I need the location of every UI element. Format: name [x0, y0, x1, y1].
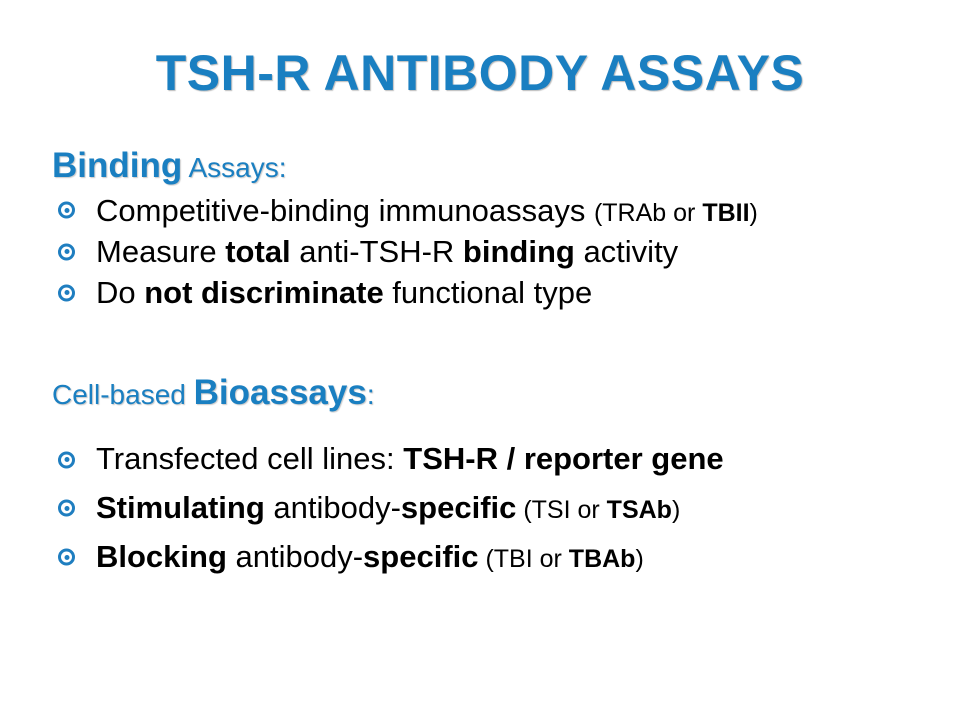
bullet-span: specific [363, 539, 478, 574]
bullet-span: Measure [96, 234, 225, 269]
bullet-span: ) [635, 545, 643, 573]
section-heading-binding-rest: Assays: [182, 152, 286, 183]
section-heading-bioassays-prefix: Cell-based [52, 379, 194, 410]
bullet-target-icon [58, 243, 75, 260]
heading-spacer [52, 417, 932, 435]
bullet-text: Do not discriminate functional type [96, 275, 592, 310]
bullet-target-icon [58, 284, 75, 301]
bullet-span: Competitive-binding immunoassays [96, 193, 594, 228]
section-spacer [52, 313, 932, 375]
section-heading-bioassays: Cell-based Bioassays: [52, 375, 932, 411]
bullet-target-icon [58, 451, 75, 468]
bullet-span: (TBI [479, 545, 540, 573]
bullet-span: Transfected cell lines: [96, 441, 403, 476]
slide-body: Binding Assays: Competitive-binding immu… [52, 148, 932, 582]
bullet-span: total [225, 234, 290, 269]
bullet-span: Stimulating [96, 490, 265, 525]
bullet-span: Do [96, 275, 144, 310]
bullet-span: antibody- [265, 490, 401, 525]
bullet-span: specific [401, 490, 516, 525]
bullet-span: ) [750, 199, 758, 227]
list-item: Transfected cell lines: TSH-R / reporter… [52, 435, 932, 484]
bullet-span: Blocking [96, 539, 227, 574]
bullet-text: Competitive-binding immunoassays (TRAb o… [96, 193, 758, 228]
bullet-span: TSH-R / reporter gene [403, 441, 723, 476]
bullet-span: not discriminate [144, 275, 383, 310]
list-item: Blocking antibody-specific (TBI or TBAb) [52, 533, 932, 582]
section-heading-bioassays-tail: : [367, 379, 375, 410]
section-heading-bioassays-bold: Bioassays [194, 373, 367, 412]
bullet-span: TBAb [569, 545, 636, 573]
bullet-span: functional type [384, 275, 593, 310]
list-item: Competitive-binding immunoassays (TRAb o… [52, 190, 932, 231]
list-item: Do not discriminate functional type [52, 272, 932, 313]
bullet-span: or [577, 496, 606, 524]
bullet-span: (TRAb [594, 199, 673, 227]
list-item: Measure total anti-TSH-R binding activit… [52, 231, 932, 272]
slide: TSH-R ANTIBODY ASSAYS Binding Assays: Co… [0, 0, 960, 720]
bullet-list-bioassays: Transfected cell lines: TSH-R / reporter… [52, 435, 932, 582]
bullet-span: ) [672, 496, 680, 524]
bullet-span: antibody- [227, 539, 363, 574]
bullet-target-icon [58, 549, 75, 566]
bullet-span: or [673, 199, 702, 227]
bullet-span: or [540, 545, 569, 573]
bullet-span: (TSI [516, 496, 577, 524]
bullet-span: TBII [702, 199, 749, 227]
page-title: TSH-R ANTIBODY ASSAYS [0, 44, 960, 102]
bullet-span: binding [463, 234, 575, 269]
bullet-text: Stimulating antibody-specific (TSI or TS… [96, 490, 680, 525]
bullet-text: Transfected cell lines: TSH-R / reporter… [96, 441, 724, 476]
list-item: Stimulating antibody-specific (TSI or TS… [52, 484, 932, 533]
bullet-span: TSAb [607, 496, 672, 524]
section-heading-binding-bold: Binding [52, 146, 182, 185]
bullet-text: Measure total anti-TSH-R binding activit… [96, 234, 678, 269]
bullet-target-icon [58, 500, 75, 517]
bullet-target-icon [58, 202, 75, 219]
section-heading-binding: Binding Assays: [52, 148, 932, 184]
bullet-span: anti-TSH-R [291, 234, 463, 269]
bullet-list-binding: Competitive-binding immunoassays (TRAb o… [52, 190, 932, 314]
bullet-span: activity [575, 234, 678, 269]
bullet-text: Blocking antibody-specific (TBI or TBAb) [96, 539, 644, 574]
